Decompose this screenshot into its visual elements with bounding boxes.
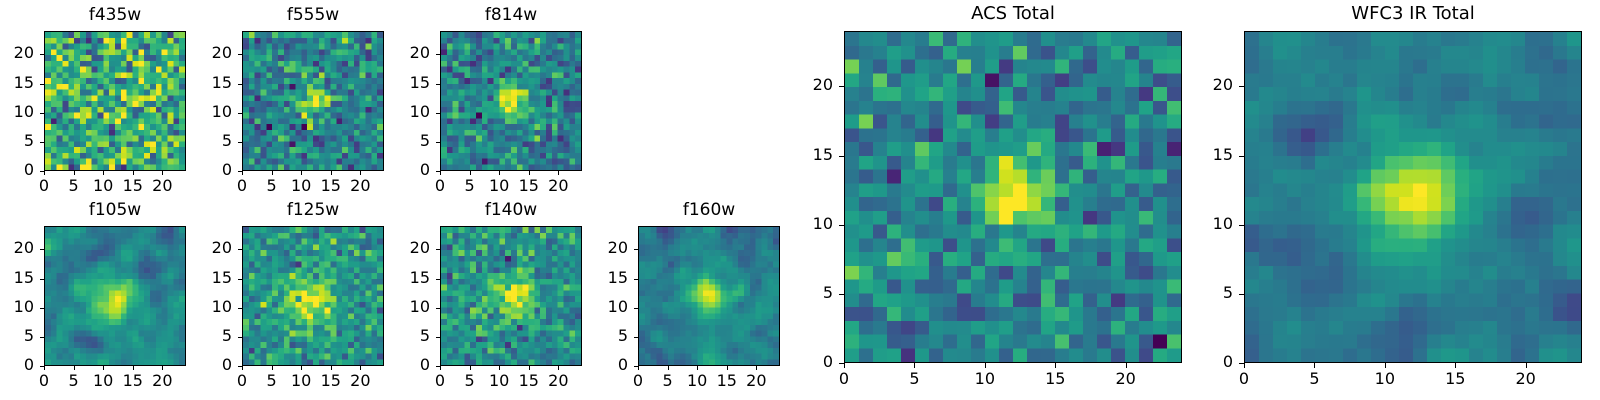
x-tick-mark — [756, 366, 757, 370]
y-tick-mark — [238, 249, 242, 250]
y-tick-label: 20 — [0, 45, 34, 61]
y-tick-mark — [238, 279, 242, 280]
x-tick-label: 20 — [732, 373, 780, 389]
x-tick-label: 20 — [534, 373, 582, 389]
y-tick-label: 15 — [386, 270, 430, 286]
panel-title: ACS Total — [844, 5, 1182, 23]
heatmap-image — [44, 31, 186, 171]
y-tick-mark — [634, 366, 638, 367]
x-tick-label: 20 — [336, 178, 384, 194]
y-tick-mark — [436, 54, 440, 55]
x-tick-mark — [499, 171, 500, 175]
y-tick-mark — [436, 337, 440, 338]
y-tick-label: 15 — [584, 270, 628, 286]
x-tick-mark — [558, 366, 559, 370]
y-tick-label: 5 — [789, 285, 833, 301]
x-tick-mark — [301, 171, 302, 175]
panel-title: f105w — [44, 202, 186, 219]
panel-f814w: f814w0510152005101520 — [440, 31, 582, 171]
y-tick-mark — [436, 249, 440, 250]
y-tick-mark — [40, 279, 44, 280]
x-tick-mark — [638, 366, 639, 370]
y-tick-label: 15 — [188, 75, 232, 91]
x-tick-mark — [74, 366, 75, 370]
x-tick-mark — [242, 171, 243, 175]
x-tick-mark — [440, 171, 441, 175]
y-tick-label: 5 — [1189, 285, 1233, 301]
x-tick-mark — [44, 171, 45, 175]
x-tick-mark — [727, 366, 728, 370]
y-tick-label: 20 — [188, 240, 232, 256]
y-tick-mark — [40, 366, 44, 367]
x-tick-label: 20 — [336, 373, 384, 389]
y-tick-label: 0 — [188, 162, 232, 178]
x-tick-mark — [499, 366, 500, 370]
y-tick-label: 20 — [188, 45, 232, 61]
x-tick-mark — [331, 171, 332, 175]
x-tick-mark — [914, 363, 915, 368]
y-tick-label: 0 — [188, 357, 232, 373]
y-tick-mark — [40, 142, 44, 143]
x-tick-label: 20 — [138, 373, 186, 389]
y-tick-mark — [238, 337, 242, 338]
y-tick-mark — [1239, 363, 1244, 364]
y-tick-mark — [40, 337, 44, 338]
y-tick-label: 5 — [386, 328, 430, 344]
x-tick-label: 0 — [1220, 371, 1268, 387]
x-tick-mark — [360, 171, 361, 175]
x-tick-label: 0 — [820, 371, 868, 387]
x-tick-mark — [272, 366, 273, 370]
y-tick-label: 10 — [0, 299, 34, 315]
x-tick-mark — [242, 366, 243, 370]
y-tick-label: 15 — [386, 75, 430, 91]
panel-f140w: f140w0510152005101520 — [440, 226, 582, 366]
y-tick-mark — [436, 84, 440, 85]
heatmap-image — [440, 226, 582, 366]
x-tick-mark — [162, 366, 163, 370]
x-tick-label: 10 — [961, 371, 1009, 387]
y-tick-label: 5 — [0, 328, 34, 344]
x-tick-label: 15 — [1431, 371, 1479, 387]
heatmap-image — [242, 31, 384, 171]
x-tick-mark — [103, 171, 104, 175]
panel-f125w: f125w0510152005101520 — [242, 226, 384, 366]
y-tick-mark — [238, 84, 242, 85]
x-tick-mark — [44, 366, 45, 370]
x-tick-mark — [1455, 363, 1456, 368]
y-tick-label: 15 — [188, 270, 232, 286]
y-tick-label: 0 — [0, 162, 34, 178]
x-tick-label: 20 — [534, 178, 582, 194]
y-tick-label: 0 — [386, 357, 430, 373]
panel-title: f160w — [638, 202, 780, 219]
panel-title: f555w — [242, 7, 384, 24]
y-tick-mark — [40, 171, 44, 172]
y-tick-mark — [839, 86, 844, 87]
y-tick-label: 10 — [789, 216, 833, 232]
x-tick-mark — [1385, 363, 1386, 368]
x-tick-mark — [360, 366, 361, 370]
x-tick-mark — [985, 363, 986, 368]
y-tick-mark — [634, 308, 638, 309]
y-tick-label: 0 — [386, 162, 430, 178]
x-tick-mark — [103, 366, 104, 370]
x-tick-mark — [529, 171, 530, 175]
x-tick-label: 10 — [1361, 371, 1409, 387]
y-tick-mark — [40, 54, 44, 55]
x-tick-mark — [668, 366, 669, 370]
y-tick-label: 0 — [584, 357, 628, 373]
x-tick-label: 5 — [1290, 371, 1338, 387]
x-tick-label: 15 — [1031, 371, 1079, 387]
y-tick-mark — [1239, 225, 1244, 226]
y-tick-mark — [40, 308, 44, 309]
x-tick-mark — [301, 366, 302, 370]
y-tick-label: 10 — [584, 299, 628, 315]
y-tick-mark — [1239, 294, 1244, 295]
panel-acs_total: ACS Total0510152005101520 — [844, 31, 1182, 363]
y-tick-label: 10 — [1189, 216, 1233, 232]
y-tick-mark — [40, 113, 44, 114]
x-tick-mark — [697, 366, 698, 370]
x-tick-mark — [1314, 363, 1315, 368]
x-tick-mark — [1055, 363, 1056, 368]
y-tick-label: 5 — [386, 133, 430, 149]
y-tick-mark — [238, 54, 242, 55]
heatmap-image — [1244, 31, 1582, 363]
y-tick-mark — [436, 142, 440, 143]
y-tick-mark — [238, 113, 242, 114]
x-tick-mark — [470, 366, 471, 370]
y-tick-mark — [839, 363, 844, 364]
y-tick-mark — [436, 308, 440, 309]
y-tick-label: 5 — [584, 328, 628, 344]
y-tick-mark — [634, 279, 638, 280]
x-tick-mark — [1526, 363, 1527, 368]
panel-title: f814w — [440, 7, 582, 24]
y-tick-label: 10 — [188, 299, 232, 315]
y-tick-label: 0 — [0, 357, 34, 373]
x-tick-label: 20 — [1102, 371, 1150, 387]
y-tick-mark — [436, 366, 440, 367]
y-tick-mark — [40, 84, 44, 85]
y-tick-label: 0 — [789, 354, 833, 370]
heatmap-image — [844, 31, 1182, 363]
heatmap-image — [44, 226, 186, 366]
y-tick-mark — [436, 279, 440, 280]
y-tick-label: 20 — [386, 240, 430, 256]
x-tick-label: 5 — [890, 371, 938, 387]
y-tick-mark — [238, 366, 242, 367]
x-tick-mark — [162, 171, 163, 175]
y-tick-label: 0 — [1189, 354, 1233, 370]
y-tick-mark — [634, 337, 638, 338]
panel-title: WFC3 IR Total — [1244, 5, 1582, 23]
y-tick-mark — [634, 249, 638, 250]
y-tick-mark — [238, 171, 242, 172]
y-tick-label: 15 — [0, 270, 34, 286]
y-tick-label: 20 — [584, 240, 628, 256]
y-tick-mark — [839, 225, 844, 226]
y-tick-label: 15 — [0, 75, 34, 91]
x-tick-label: 20 — [1502, 371, 1550, 387]
figure-canvas: f435w0510152005101520f555w05101520051015… — [0, 0, 1600, 400]
panel-f555w: f555w0510152005101520 — [242, 31, 384, 171]
panel-title: f140w — [440, 202, 582, 219]
y-tick-label: 15 — [789, 147, 833, 163]
y-tick-mark — [238, 308, 242, 309]
y-tick-label: 5 — [188, 133, 232, 149]
x-tick-mark — [74, 171, 75, 175]
y-tick-label: 20 — [0, 240, 34, 256]
x-tick-mark — [133, 366, 134, 370]
y-tick-mark — [839, 156, 844, 157]
y-tick-mark — [839, 294, 844, 295]
x-tick-mark — [529, 366, 530, 370]
y-tick-mark — [40, 249, 44, 250]
x-tick-mark — [440, 366, 441, 370]
panel-title: f125w — [242, 202, 384, 219]
x-tick-mark — [558, 171, 559, 175]
x-tick-mark — [331, 366, 332, 370]
x-tick-mark — [1126, 363, 1127, 368]
x-tick-mark — [133, 171, 134, 175]
heatmap-image — [440, 31, 582, 171]
y-tick-label: 5 — [0, 133, 34, 149]
y-tick-label: 20 — [386, 45, 430, 61]
panel-f105w: f105w0510152005101520 — [44, 226, 186, 366]
panel-f435w: f435w0510152005101520 — [44, 31, 186, 171]
y-tick-mark — [436, 171, 440, 172]
y-tick-label: 10 — [386, 104, 430, 120]
panel-wfc3_ir_total: WFC3 IR Total0510152005101520 — [1244, 31, 1582, 363]
y-tick-label: 5 — [188, 328, 232, 344]
y-tick-label: 20 — [789, 77, 833, 93]
y-tick-mark — [1239, 86, 1244, 87]
y-tick-label: 10 — [188, 104, 232, 120]
panel-title: f435w — [44, 7, 186, 24]
y-tick-label: 15 — [1189, 147, 1233, 163]
y-tick-mark — [1239, 156, 1244, 157]
x-tick-label: 20 — [138, 178, 186, 194]
y-tick-mark — [436, 113, 440, 114]
x-tick-mark — [470, 171, 471, 175]
y-tick-mark — [238, 142, 242, 143]
panel-f160w: f160w0510152005101520 — [638, 226, 780, 366]
x-tick-mark — [1244, 363, 1245, 368]
heatmap-image — [638, 226, 780, 366]
heatmap-image — [242, 226, 384, 366]
y-tick-label: 20 — [1189, 77, 1233, 93]
x-tick-mark — [272, 171, 273, 175]
y-tick-label: 10 — [0, 104, 34, 120]
x-tick-mark — [844, 363, 845, 368]
y-tick-label: 10 — [386, 299, 430, 315]
